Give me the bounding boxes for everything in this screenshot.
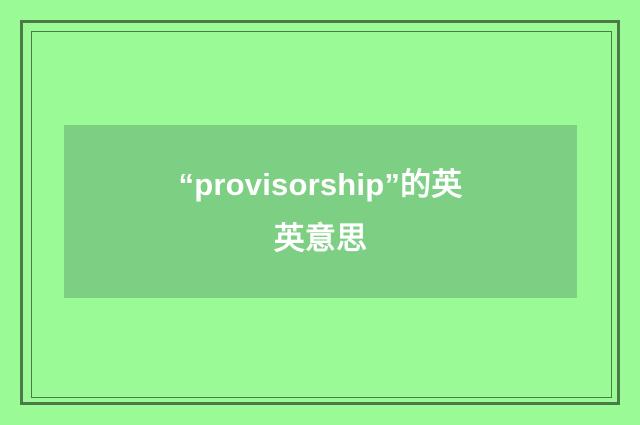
headline-text: “provisorship”的英英意思 <box>171 158 471 265</box>
title-panel: “provisorship”的英英意思 <box>64 125 577 298</box>
slide-canvas: “provisorship”的英英意思 <box>0 0 640 425</box>
